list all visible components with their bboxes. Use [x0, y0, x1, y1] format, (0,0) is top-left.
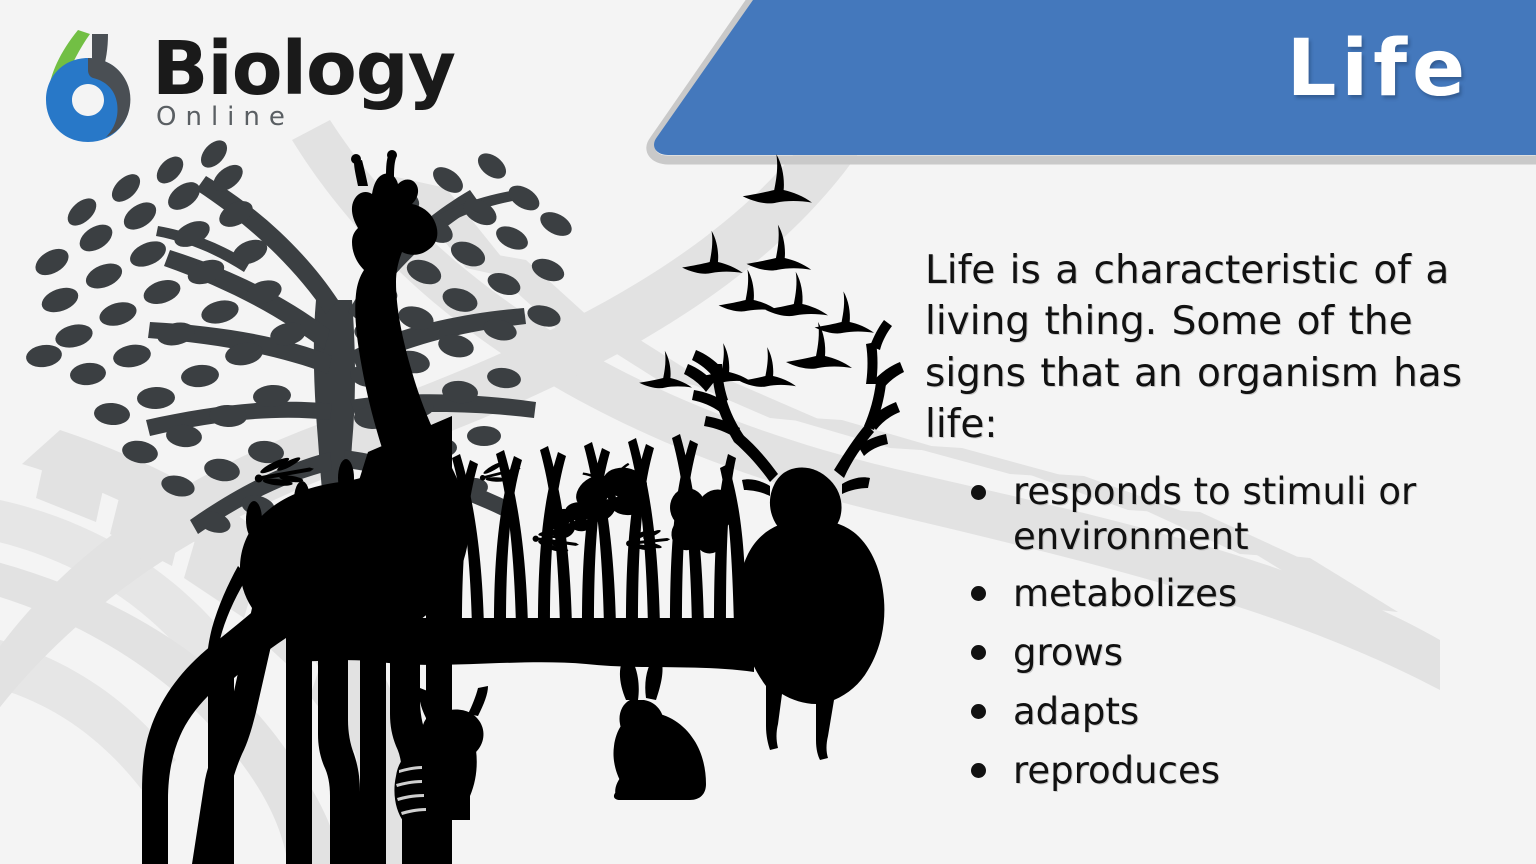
bullet-dot-icon [971, 645, 986, 660]
list-item: grows [971, 629, 1485, 677]
list-item: reproduces [971, 747, 1485, 795]
list-item-label: responds to stimuli or environment [1013, 470, 1416, 558]
bullet-dot-icon [971, 763, 986, 778]
b-droplet-leaf-icon [34, 28, 144, 146]
bullet-dot-icon [971, 704, 986, 719]
brand-logo[interactable]: Biology Online [0, 0, 470, 165]
list-item-label: reproduces [1013, 749, 1220, 792]
life-signs-list: responds to stimuli or environment metab… [971, 469, 1485, 796]
bullet-dot-icon [971, 485, 986, 500]
list-item: metabolizes [971, 570, 1485, 618]
infographic-canvas: Life [0, 0, 1536, 864]
list-item: responds to stimuli or environment [971, 469, 1485, 559]
definition-paragraph: Life is a characteristic of a living thi… [925, 245, 1485, 451]
list-item-label: adapts [1013, 690, 1139, 733]
logo-title: Biology [152, 34, 482, 106]
list-item-label: grows [1013, 631, 1123, 674]
list-item: adapts [971, 688, 1485, 736]
bullet-dot-icon [971, 586, 986, 601]
list-item-label: metabolizes [1013, 572, 1237, 615]
